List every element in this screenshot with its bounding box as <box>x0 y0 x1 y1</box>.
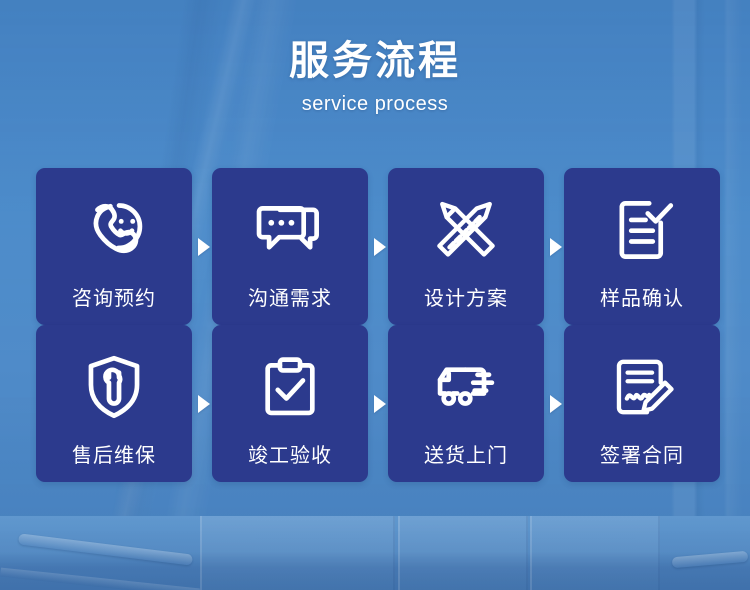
arrow-left-flow-icon <box>550 395 562 413</box>
arrow-right-icon <box>550 238 562 256</box>
process-row-1: 咨询预约 沟通需求 <box>36 168 720 325</box>
process-card-label: 签署合同 <box>600 439 684 468</box>
process-card-design[interactable]: 设计方案 <box>388 168 544 325</box>
process-card-contract[interactable]: 签署合同 <box>564 325 720 482</box>
arrow-left-flow-icon <box>374 395 386 413</box>
delivery-truck-icon <box>429 351 503 423</box>
title-english: service process <box>0 93 750 116</box>
page-title: 服务流程 service process <box>0 38 750 116</box>
process-card-consultation[interactable]: 咨询预约 <box>36 168 192 325</box>
clipboard-check-icon <box>253 351 327 423</box>
document-check-icon <box>605 194 679 266</box>
arrow-right-icon <box>198 238 210 256</box>
process-card-label: 售后维保 <box>72 439 156 468</box>
contract-pen-icon <box>605 351 679 423</box>
process-card-label: 样品确认 <box>600 282 684 311</box>
pencil-ruler-icon <box>429 194 503 266</box>
process-card-communication[interactable]: 沟通需求 <box>212 168 368 325</box>
process-card-label: 竣工验收 <box>248 439 332 468</box>
phone-smile-icon <box>77 194 151 266</box>
chat-bubbles-icon <box>253 194 327 266</box>
process-card-label: 设计方案 <box>424 282 508 311</box>
arrow-left-flow-icon <box>198 395 210 413</box>
title-chinese: 服务流程 <box>0 38 750 84</box>
process-card-after-sales[interactable]: 售后维保 <box>36 325 192 482</box>
process-card-label: 沟通需求 <box>248 282 332 311</box>
shield-wrench-icon <box>77 351 151 423</box>
process-row-2: 售后维保 竣工验收 <box>36 325 720 482</box>
process-card-sample-confirm[interactable]: 样品确认 <box>564 168 720 325</box>
arrow-right-icon <box>374 238 386 256</box>
process-card-delivery[interactable]: 送货上门 <box>388 325 544 482</box>
process-card-label: 咨询预约 <box>72 282 156 311</box>
process-grid: 咨询预约 沟通需求 <box>36 168 720 482</box>
process-card-label: 送货上门 <box>424 439 508 468</box>
process-card-acceptance[interactable]: 竣工验收 <box>212 325 368 482</box>
service-process-banner: 服务流程 service process 咨询预约 <box>0 0 750 590</box>
